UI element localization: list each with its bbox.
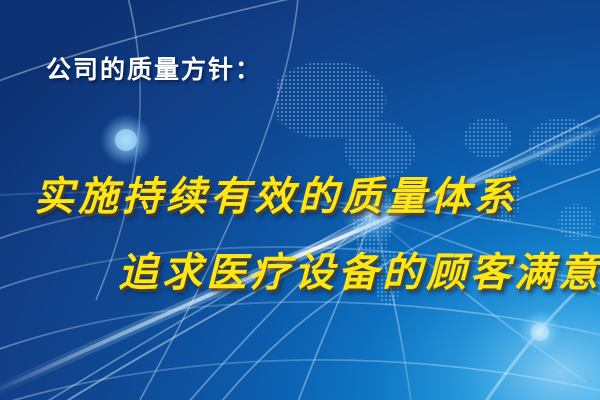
policy-line-1: 实施持续有效的质量体系 <box>0 164 600 222</box>
glow-node-icon <box>100 114 152 166</box>
glow-node-icon <box>518 310 562 354</box>
page-title: 公司的质量方针： <box>46 50 262 86</box>
policy-line-2: 追求医疗设备的顾客满意 <box>0 240 600 298</box>
quality-policy-banner: 公司的质量方针： 实施持续有效的质量体系 追求医疗设备的顾客满意 <box>0 0 600 400</box>
